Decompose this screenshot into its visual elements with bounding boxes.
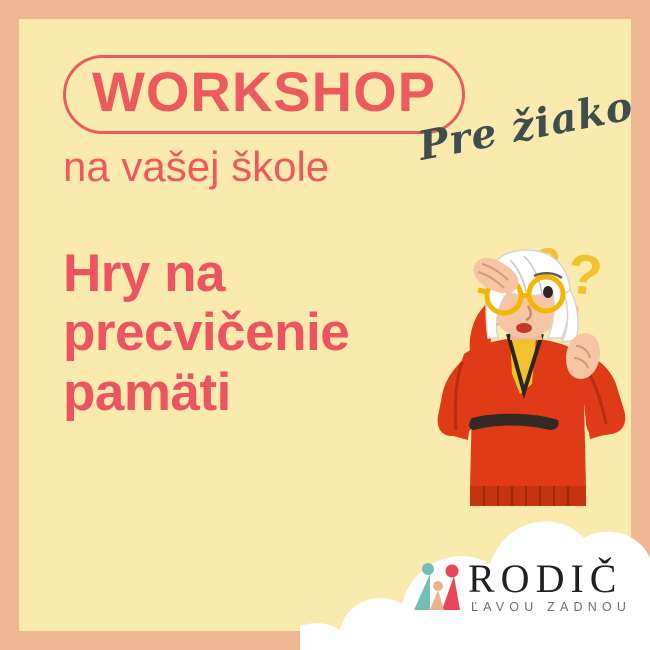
- illustration-confused-woman: ? ? ?: [424, 234, 631, 539]
- workshop-badge-label: WORKSHOP: [92, 63, 436, 122]
- logo-wordmark: RODIČ ĽAVOU ZADNOU: [468, 560, 631, 614]
- page-title: Hry na precvičenie pamäti: [63, 244, 443, 422]
- poster-inner-panel: WORKSHOP na vašej škole Pre žiakov Hry n…: [19, 19, 631, 631]
- brand-logo: RODIČ ĽAVOU ZADNOU: [408, 552, 633, 622]
- logo-name: RODIČ: [468, 560, 631, 598]
- header-block: WORKSHOP na vašej škole: [63, 55, 623, 190]
- poster-canvas: WORKSHOP na vašej škole Pre žiakov Hry n…: [0, 0, 650, 650]
- eye-shape: [543, 286, 553, 298]
- logo-tagline: ĽAVOU ZADNOU: [471, 601, 631, 614]
- rodic-logo-mark-icon: [408, 558, 466, 616]
- header-subtitle: na vašej škole: [63, 144, 623, 190]
- workshop-badge: WORKSHOP: [63, 55, 465, 134]
- mouth-shape: [516, 323, 532, 333]
